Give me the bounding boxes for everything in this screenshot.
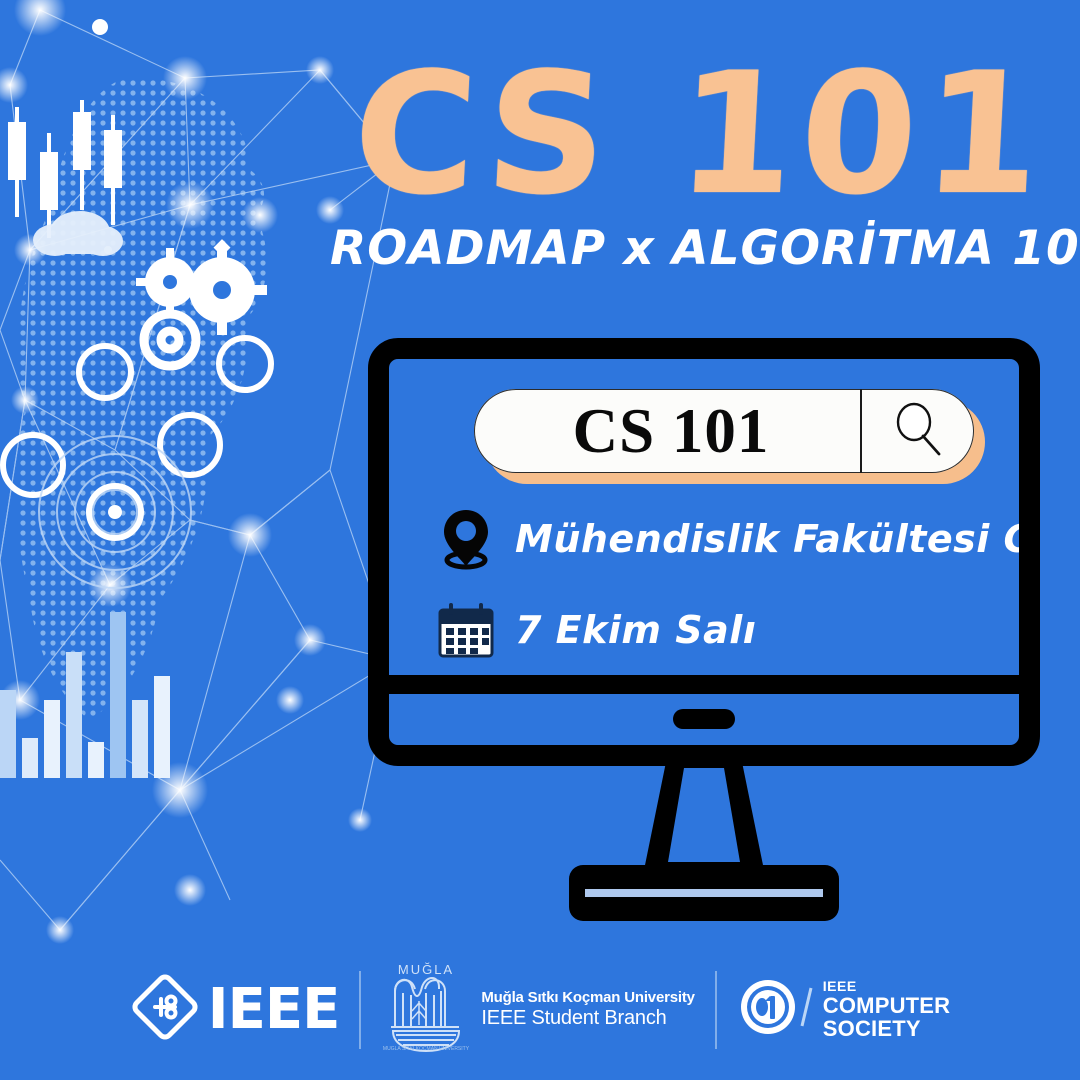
student-branch-text: Muğla Sıtkı Koçman University IEEE Stude… [481,989,694,1030]
ieee-diamond-icon [130,972,200,1047]
computer-society-line-3: SOCIETY [823,1017,951,1040]
computer-society-line-1: IEEE [823,979,951,994]
poster-header: CS 101 ROADMAP x ALGORİTMA 101 [330,52,1070,276]
ieee-wordmark: IEEE [208,982,340,1038]
event-info-list: Mühendislik Fakültesi CB07 [433,501,1001,694]
info-date-text: 7 Ekim Salı [515,608,756,652]
monitor-notch [673,709,735,729]
mugla-university-crest-icon: MUĞLA MUGLA SITKI KOCMAN UNIVERSITY [381,961,471,1058]
poster-canvas: CS 101 ROADMAP x ALGORİTMA 101 CS 101 [0,0,1080,1080]
monitor-frame: CS 101 [368,338,1040,766]
mugla-student-branch-logo: MUĞLA MUGLA SITKI KOCMAN UNIVERSITY [361,961,714,1058]
ieee-logo: IEEE [110,972,360,1047]
search-button[interactable] [862,389,974,473]
computer-society-text: IEEE COMPUTER SOCIETY [823,979,951,1040]
crest-label: MUĞLA [398,962,454,977]
location-pin-icon [433,508,499,570]
footer-logos: IEEE MUĞLA [0,961,1080,1058]
monitor-illustration: CS 101 [368,338,1040,928]
svg-text:MUGLA SITKI KOCMAN UNIVERSITY: MUGLA SITKI KOCMAN UNIVERSITY [383,1046,470,1052]
info-location-text: Mühendislik Fakültesi CB07 [515,517,1019,561]
computer-society-line-2: COMPUTER [823,994,951,1017]
search-bar-group: CS 101 [474,389,974,477]
footer-divider-2 [715,971,717,1049]
monitor-stand-base-highlight [585,889,823,897]
info-row-location: Mühendislik Fakültesi CB07 [433,501,1001,576]
search-icon [887,398,949,465]
student-branch-line-1: Muğla Sıtkı Koçman University [481,989,694,1007]
monitor-stand-base [569,865,839,921]
computer-society-divider-slash [799,984,815,1035]
page-title: CS 101 [326,52,1075,217]
search-input[interactable]: CS 101 [474,400,860,463]
calendar-icon [433,601,499,659]
ieee-computer-society-icon [737,976,799,1043]
search-bar[interactable]: CS 101 [474,389,974,473]
monitor-stand-neck [632,762,776,872]
monitor-screen: CS 101 [389,359,1019,694]
ieee-computer-society-logo: IEEE COMPUTER SOCIETY [717,976,971,1043]
info-row-date: 7 Ekim Salı [433,592,1001,667]
monitor-bottom-bezel [389,693,1019,745]
student-branch-line-2: IEEE Student Branch [481,1007,694,1031]
footer-divider-1 [359,971,361,1049]
